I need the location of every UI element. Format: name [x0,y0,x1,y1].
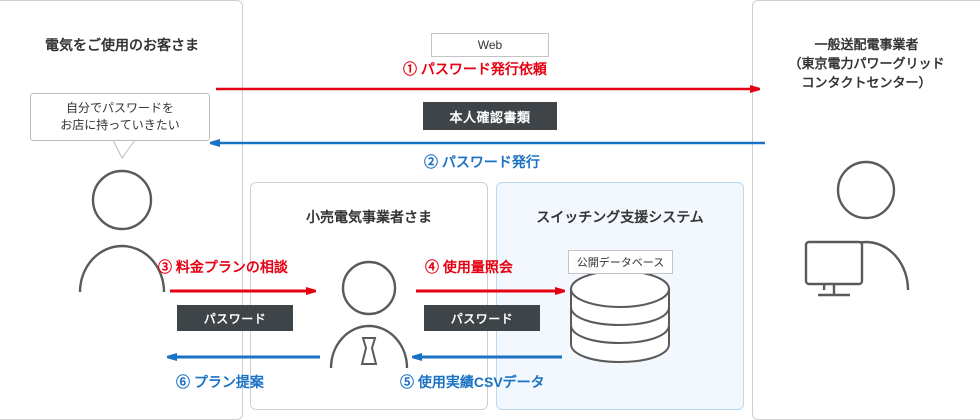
arrow-label-1: ① パスワード発行依頼 [403,59,547,79]
arrow-label-3: ③ 料金プランの相談 [158,257,288,277]
chip-public-database: 公開データベース [568,250,673,274]
diagram-canvas: 電気をご使用のお客さま 小売電気事業者さま スイッチング支援システム 一般送配電… [0,0,980,420]
chip-web: Web [431,33,549,57]
panel-customer-title: 電気をご使用のお客さま [0,35,244,55]
chip-identity-document: 本人確認書類 [423,102,557,130]
panel-retailer-title: 小売電気事業者さま [250,207,488,227]
chip-password-retailer: パスワード [424,305,540,331]
panel-switching-title: スイッチング支援システム [496,207,744,227]
customer-speech-bubble: 自分でパスワードを お店に持っていきたい [30,93,210,141]
arrow-label-4: ④ 使用量照会 [425,257,513,277]
panel-customer [0,0,243,420]
arrow-label-2: ② パスワード発行 [424,152,540,172]
arrow-label-6: ⑥ プラン提案 [176,372,264,392]
arrow-label-5: ⑤ 使用実績CSVデータ [400,372,545,392]
chip-password-customer: パスワード [177,305,293,331]
panel-tso-title: 一般送配電事業者 （東京電力パワーグリッド コンタクトセンター） [752,36,980,93]
